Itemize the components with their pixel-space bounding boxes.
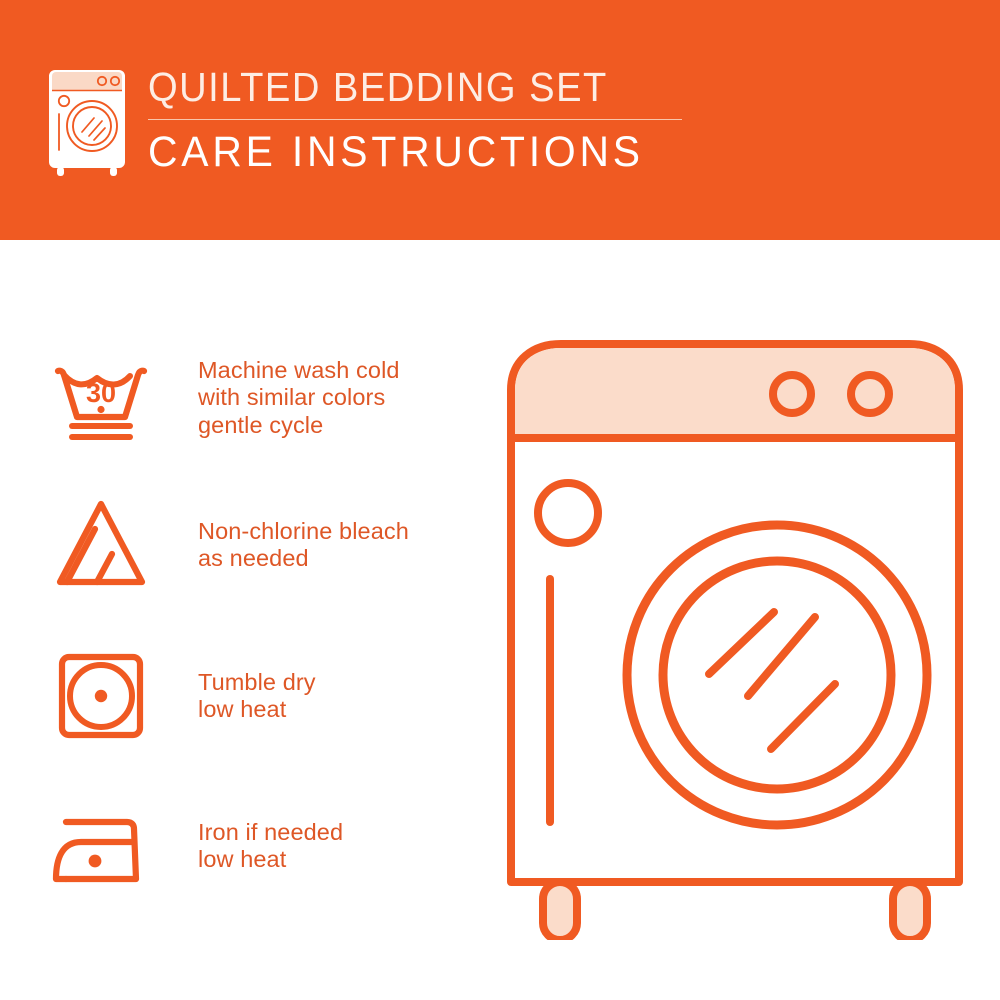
care-text-bleach: Non-chlorine bleach as needed xyxy=(198,518,409,573)
care-text-iron: Iron if needed low heat xyxy=(198,819,343,874)
washing-machine-icon xyxy=(44,66,130,178)
care-line: Tumble dry xyxy=(198,669,316,697)
care-line: Non-chlorine bleach xyxy=(198,518,409,546)
care-line: with similar colors xyxy=(198,384,400,412)
wash-temperature-label: 30 xyxy=(86,378,116,408)
care-line: low heat xyxy=(198,696,316,724)
header-title-block: QUILTED BEDDING SET CARE INSTRUCTIONS xyxy=(148,62,682,176)
care-text-machine-wash: Machine wash cold with similar colors ge… xyxy=(198,357,400,440)
page-title-secondary: CARE INSTRUCTIONS xyxy=(148,128,655,176)
care-row-bleach: Non-chlorine bleach as needed xyxy=(48,492,478,598)
care-row-iron: Iron if needed low heat xyxy=(48,793,478,899)
page-title-primary: QUILTED BEDDING SET xyxy=(148,64,645,110)
washer-foot-right xyxy=(893,882,927,940)
washer-foot-left xyxy=(543,882,577,940)
care-line: low heat xyxy=(198,846,343,874)
iron-low-heat-icon xyxy=(48,793,154,899)
care-instruction-list: 30 Machine wash cold with similar colors… xyxy=(0,240,500,1000)
tumble-dry-low-heat-icon xyxy=(48,643,154,749)
care-row-machine-wash: 30 Machine wash cold with similar colors… xyxy=(48,345,478,451)
care-line: as needed xyxy=(198,545,409,573)
title-divider xyxy=(148,119,682,120)
care-line: gentle cycle xyxy=(198,412,400,440)
care-row-tumble-dry: Tumble dry low heat xyxy=(48,643,478,749)
large-washing-machine-illustration xyxy=(495,330,975,940)
care-line: Iron if needed xyxy=(198,819,343,847)
triangle-non-chlorine-bleach-icon xyxy=(48,492,154,598)
wash-basin-30-gentle-icon: 30 xyxy=(48,345,154,451)
care-line: Machine wash cold xyxy=(198,357,400,385)
header-banner: QUILTED BEDDING SET CARE INSTRUCTIONS xyxy=(0,0,1000,240)
care-text-tumble-dry: Tumble dry low heat xyxy=(198,669,316,724)
header-content: QUILTED BEDDING SET CARE INSTRUCTIONS xyxy=(44,62,682,178)
